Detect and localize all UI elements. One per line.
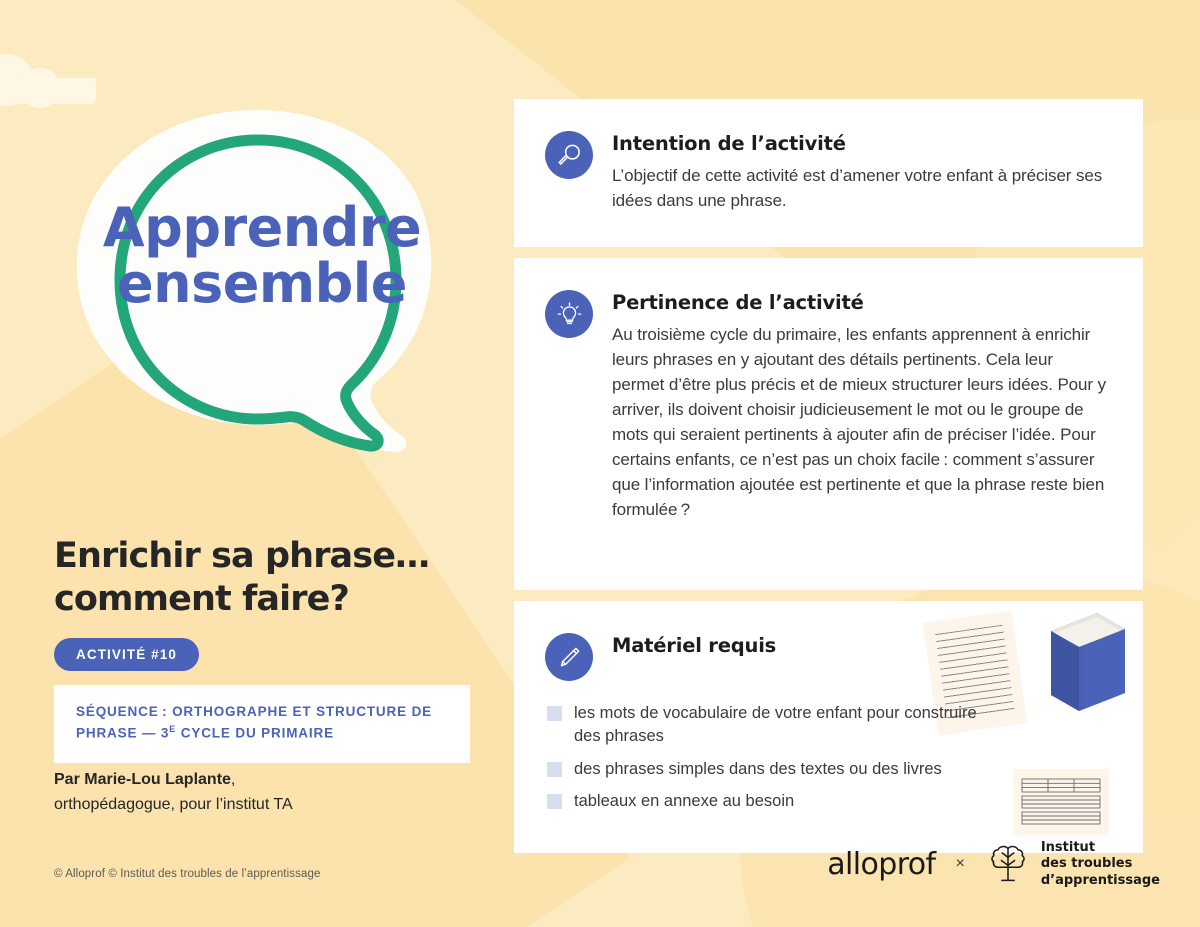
logo-line-1: Apprendre: [103, 196, 421, 259]
author-comma: ,: [231, 771, 235, 788]
page-title-line-2: comment faire?: [54, 579, 349, 619]
card-pertinence-title: Pertinence de l’activité: [612, 291, 1109, 314]
card-intention-title: Intention de l’activité: [612, 132, 1109, 155]
activity-badge: ACTIVITÉ #10: [54, 638, 199, 671]
logo-separator-icon: ×: [956, 855, 965, 873]
content-cards: Intention de l’activité L’objectif de ce…: [514, 99, 1143, 853]
card-materiel: Matériel requis les mots de vocabulaire …: [514, 601, 1143, 853]
copyright-notice: © Alloprof © Institut des troubles de l’…: [54, 868, 320, 880]
magnifier-icon: [545, 131, 593, 179]
pencil-icon: [545, 633, 593, 681]
checkbox-icon[interactable]: [547, 706, 562, 721]
material-item-label: tableaux en annexe au besoin: [574, 790, 794, 813]
card-materiel-title: Matériel requis: [612, 634, 1109, 657]
logo-wordmark: Apprendre ensemble: [62, 200, 462, 311]
material-list: les mots de vocabulaire de votre enfant …: [547, 702, 977, 814]
lightbulb-icon: [545, 290, 593, 338]
material-item-label: des phrases simples dans des textes ou d…: [574, 758, 942, 781]
list-item: des phrases simples dans des textes ou d…: [547, 758, 977, 781]
institut-logo-line-2: des troubles: [1041, 856, 1160, 872]
author-block: Par Marie-Lou Laplante, orthopédagogue, …: [54, 768, 474, 818]
page-title-line-1: Enrichir sa phrase…: [54, 536, 429, 576]
activity-badge-label: ACTIVITÉ #10: [76, 647, 177, 662]
card-intention-body: L’objectif de cette activité est d’amene…: [612, 164, 1109, 214]
apprendre-ensemble-logo: Apprendre ensemble: [62, 104, 462, 464]
left-panel: Apprendre ensemble Enrichir sa phrase… c…: [0, 0, 500, 927]
card-pertinence-body: Au troisième cycle du primaire, les enfa…: [612, 323, 1109, 523]
sequence-box: SÉQUENCE : ORTHOGRAPHE ET STRUCTURE DE P…: [54, 685, 470, 763]
material-item-label: les mots de vocabulaire de votre enfant …: [574, 702, 977, 749]
author-name: Par Marie-Lou Laplante: [54, 771, 231, 788]
list-item: tableaux en annexe au besoin: [547, 790, 977, 813]
page-title: Enrichir sa phrase… comment faire?: [54, 535, 484, 620]
card-intention: Intention de l’activité L’objectif de ce…: [514, 99, 1143, 247]
sequence-text-suffix: CYCLE DU PRIMAIRE: [176, 725, 334, 740]
checkbox-icon[interactable]: [547, 762, 562, 777]
logo-line-2: ensemble: [62, 256, 462, 312]
poster-page: Apprendre ensemble Enrichir sa phrase… c…: [0, 0, 1200, 927]
institut-logo-line-3: d’apprentissage: [1041, 873, 1160, 889]
author-role: orthopédagogue, pour l’institut TA: [54, 796, 293, 813]
card-pertinence: Pertinence de l’activité Au troisième cy…: [514, 258, 1143, 590]
list-item: les mots de vocabulaire de votre enfant …: [547, 702, 977, 749]
checkbox-icon[interactable]: [547, 794, 562, 809]
